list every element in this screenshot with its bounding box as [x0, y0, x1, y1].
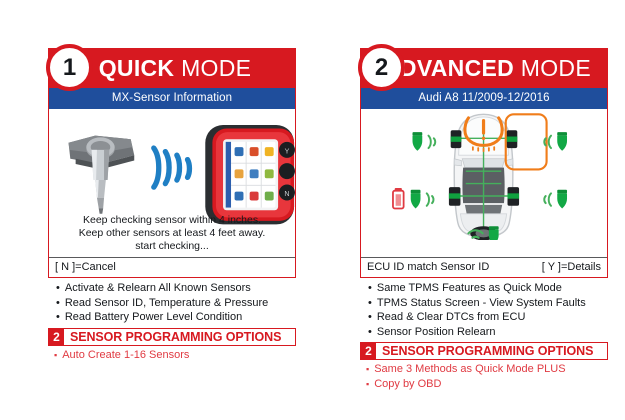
list-item: • Same TPMS Features as Quick Mode [368, 281, 608, 296]
car-tpms-overview-illustration [361, 109, 607, 240]
list-item: • Read Sensor ID, Temperature & Pressure [56, 296, 296, 311]
softkey-cancel[interactable]: [ N ]=Cancel [55, 261, 116, 273]
square-bullet-icon: ▪ [54, 348, 57, 363]
instruction-line: Keep checking sensor within 4 inches. [49, 214, 295, 227]
quick-mode-softkeys: [ N ]=Cancel [49, 257, 295, 277]
spo-number: 2 [361, 343, 376, 359]
green-sensor-icon [411, 190, 421, 209]
advanced-mode-badge: 2 [358, 44, 405, 91]
advanced-mode-screen-title: Audi A8 11/2009-12/2016 [361, 88, 607, 109]
advanced-mode-spo-banner: 2 SENSOR PROGRAMMING OPTIONS [360, 342, 608, 360]
quick-mode-instructions: Keep checking sensor within 4 inches. Ke… [49, 214, 295, 253]
green-sensor-icon [557, 190, 567, 209]
bullet-dot-icon: • [368, 281, 372, 296]
advanced-mode-title: ADVANCED MODE [377, 57, 591, 80]
advanced-mode-device-screen: Audi A8 11/2009-12/2016 [360, 88, 608, 278]
quick-mode-screen-title: MX-Sensor Information [49, 88, 295, 109]
bullet-dot-icon: • [56, 281, 60, 296]
bullet-dot-icon: • [368, 296, 372, 311]
green-sensor-icon [557, 132, 567, 151]
bullet-dot-icon: • [56, 296, 60, 311]
spo-item-label: Auto Create 1-16 Sensors [62, 348, 189, 363]
feature-label: Read & Clear DTCs from ECU [377, 310, 526, 325]
sensor-rear-right-group [544, 190, 567, 209]
wireless-signal-icon [427, 193, 434, 205]
wireless-signal-icon [544, 193, 551, 205]
bullet-dot-icon: • [368, 325, 372, 340]
feature-label: TPMS Status Screen - View System Faults [377, 296, 586, 311]
advanced-mode-spo-items: ▪ Same 3 Methods as Quick Mode PLUS ▪ Co… [360, 360, 608, 392]
quick-mode-feature-list: • Activate & Relearn All Known Sensors •… [48, 278, 296, 325]
list-item: • Read & Clear DTCs from ECU [368, 310, 608, 325]
spo-label: SENSOR PROGRAMMING OPTIONS [376, 343, 607, 359]
feature-label: Sensor Position Relearn [377, 325, 496, 340]
advanced-mode-softkeys: ECU ID match Sensor ID [ Y ]=Details [361, 257, 607, 277]
red-low-battery-icon [393, 188, 404, 208]
quick-mode-spo-items: ▪ Auto Create 1-16 Sensors [48, 346, 296, 363]
ecu-match-status: ECU ID match Sensor ID [367, 261, 489, 273]
quick-mode-screen-body: Y N Keep checking sensor within 4 inches… [49, 109, 295, 257]
quick-mode-title-bold: QUICK [99, 55, 175, 81]
tpms-scan-tool-icon: Y N [205, 125, 295, 224]
list-item: ▪ Same 3 Methods as Quick Mode PLUS [366, 362, 608, 377]
list-item: ▪ Copy by OBD [366, 377, 608, 392]
quick-mode-title-light: MODE [181, 55, 251, 81]
advanced-mode-title-light: MODE [521, 55, 591, 81]
tpms-sensor-icon [69, 136, 135, 214]
square-bullet-icon: ▪ [366, 362, 369, 377]
sensor-front-left-group [413, 132, 436, 151]
instruction-line: start checking... [49, 240, 295, 253]
svg-text:N: N [284, 190, 289, 198]
advanced-mode-screen-body [361, 109, 607, 257]
list-item: • TPMS Status Screen - View System Fault… [368, 296, 608, 311]
advanced-mode-header: 2 ADVANCED MODE [360, 48, 608, 88]
spo-label: SENSOR PROGRAMMING OPTIONS [64, 329, 295, 345]
spo-item-label: Same 3 Methods as Quick Mode PLUS [374, 362, 565, 377]
square-bullet-icon: ▪ [366, 377, 369, 392]
green-sensor-icon [413, 132, 423, 151]
bullet-dot-icon: • [368, 310, 372, 325]
softkey-details[interactable]: [ Y ]=Details [542, 261, 601, 273]
tpms-modes-infographic: 1 QUICK MODE MX-Sensor Information [0, 0, 625, 420]
instruction-line: Keep other sensors at least 4 feet away. [49, 227, 295, 240]
quick-mode-spo-banner: 2 SENSOR PROGRAMMING OPTIONS [48, 328, 296, 346]
list-item: • Activate & Relearn All Known Sensors [56, 281, 296, 296]
quick-mode-badge: 1 [46, 44, 93, 91]
panel-quick-mode: 1 QUICK MODE MX-Sensor Information [16, 48, 296, 363]
green-sensor-icon [489, 226, 499, 240]
sensor-front-right-group [544, 132, 567, 151]
wireless-signal-icon [428, 136, 435, 148]
quick-mode-device-screen: MX-Sensor Information [48, 88, 296, 278]
spo-item-label: Copy by OBD [374, 377, 441, 392]
list-item: • Sensor Position Relearn [368, 325, 608, 340]
feature-label: Read Sensor ID, Temperature & Pressure [65, 296, 268, 311]
bullet-dot-icon: • [56, 310, 60, 325]
list-item: • Read Battery Power Level Condition [56, 310, 296, 325]
wireless-signal-icon [154, 148, 190, 187]
feature-label: Read Battery Power Level Condition [65, 310, 242, 325]
advanced-mode-feature-list: • Same TPMS Features as Quick Mode • TPM… [360, 278, 608, 339]
svg-text:Y: Y [285, 147, 290, 155]
quick-mode-header: 1 QUICK MODE [48, 48, 296, 88]
panel-advanced-mode: 2 ADVANCED MODE Audi A8 11/2009-12/2016 [328, 48, 608, 392]
feature-label: Same TPMS Features as Quick Mode [377, 281, 562, 296]
feature-label: Activate & Relearn All Known Sensors [65, 281, 251, 296]
quick-mode-title: QUICK MODE [93, 57, 252, 80]
sensor-rear-left-group [393, 188, 433, 208]
spo-number: 2 [49, 329, 64, 345]
list-item: ▪ Auto Create 1-16 Sensors [54, 348, 296, 363]
